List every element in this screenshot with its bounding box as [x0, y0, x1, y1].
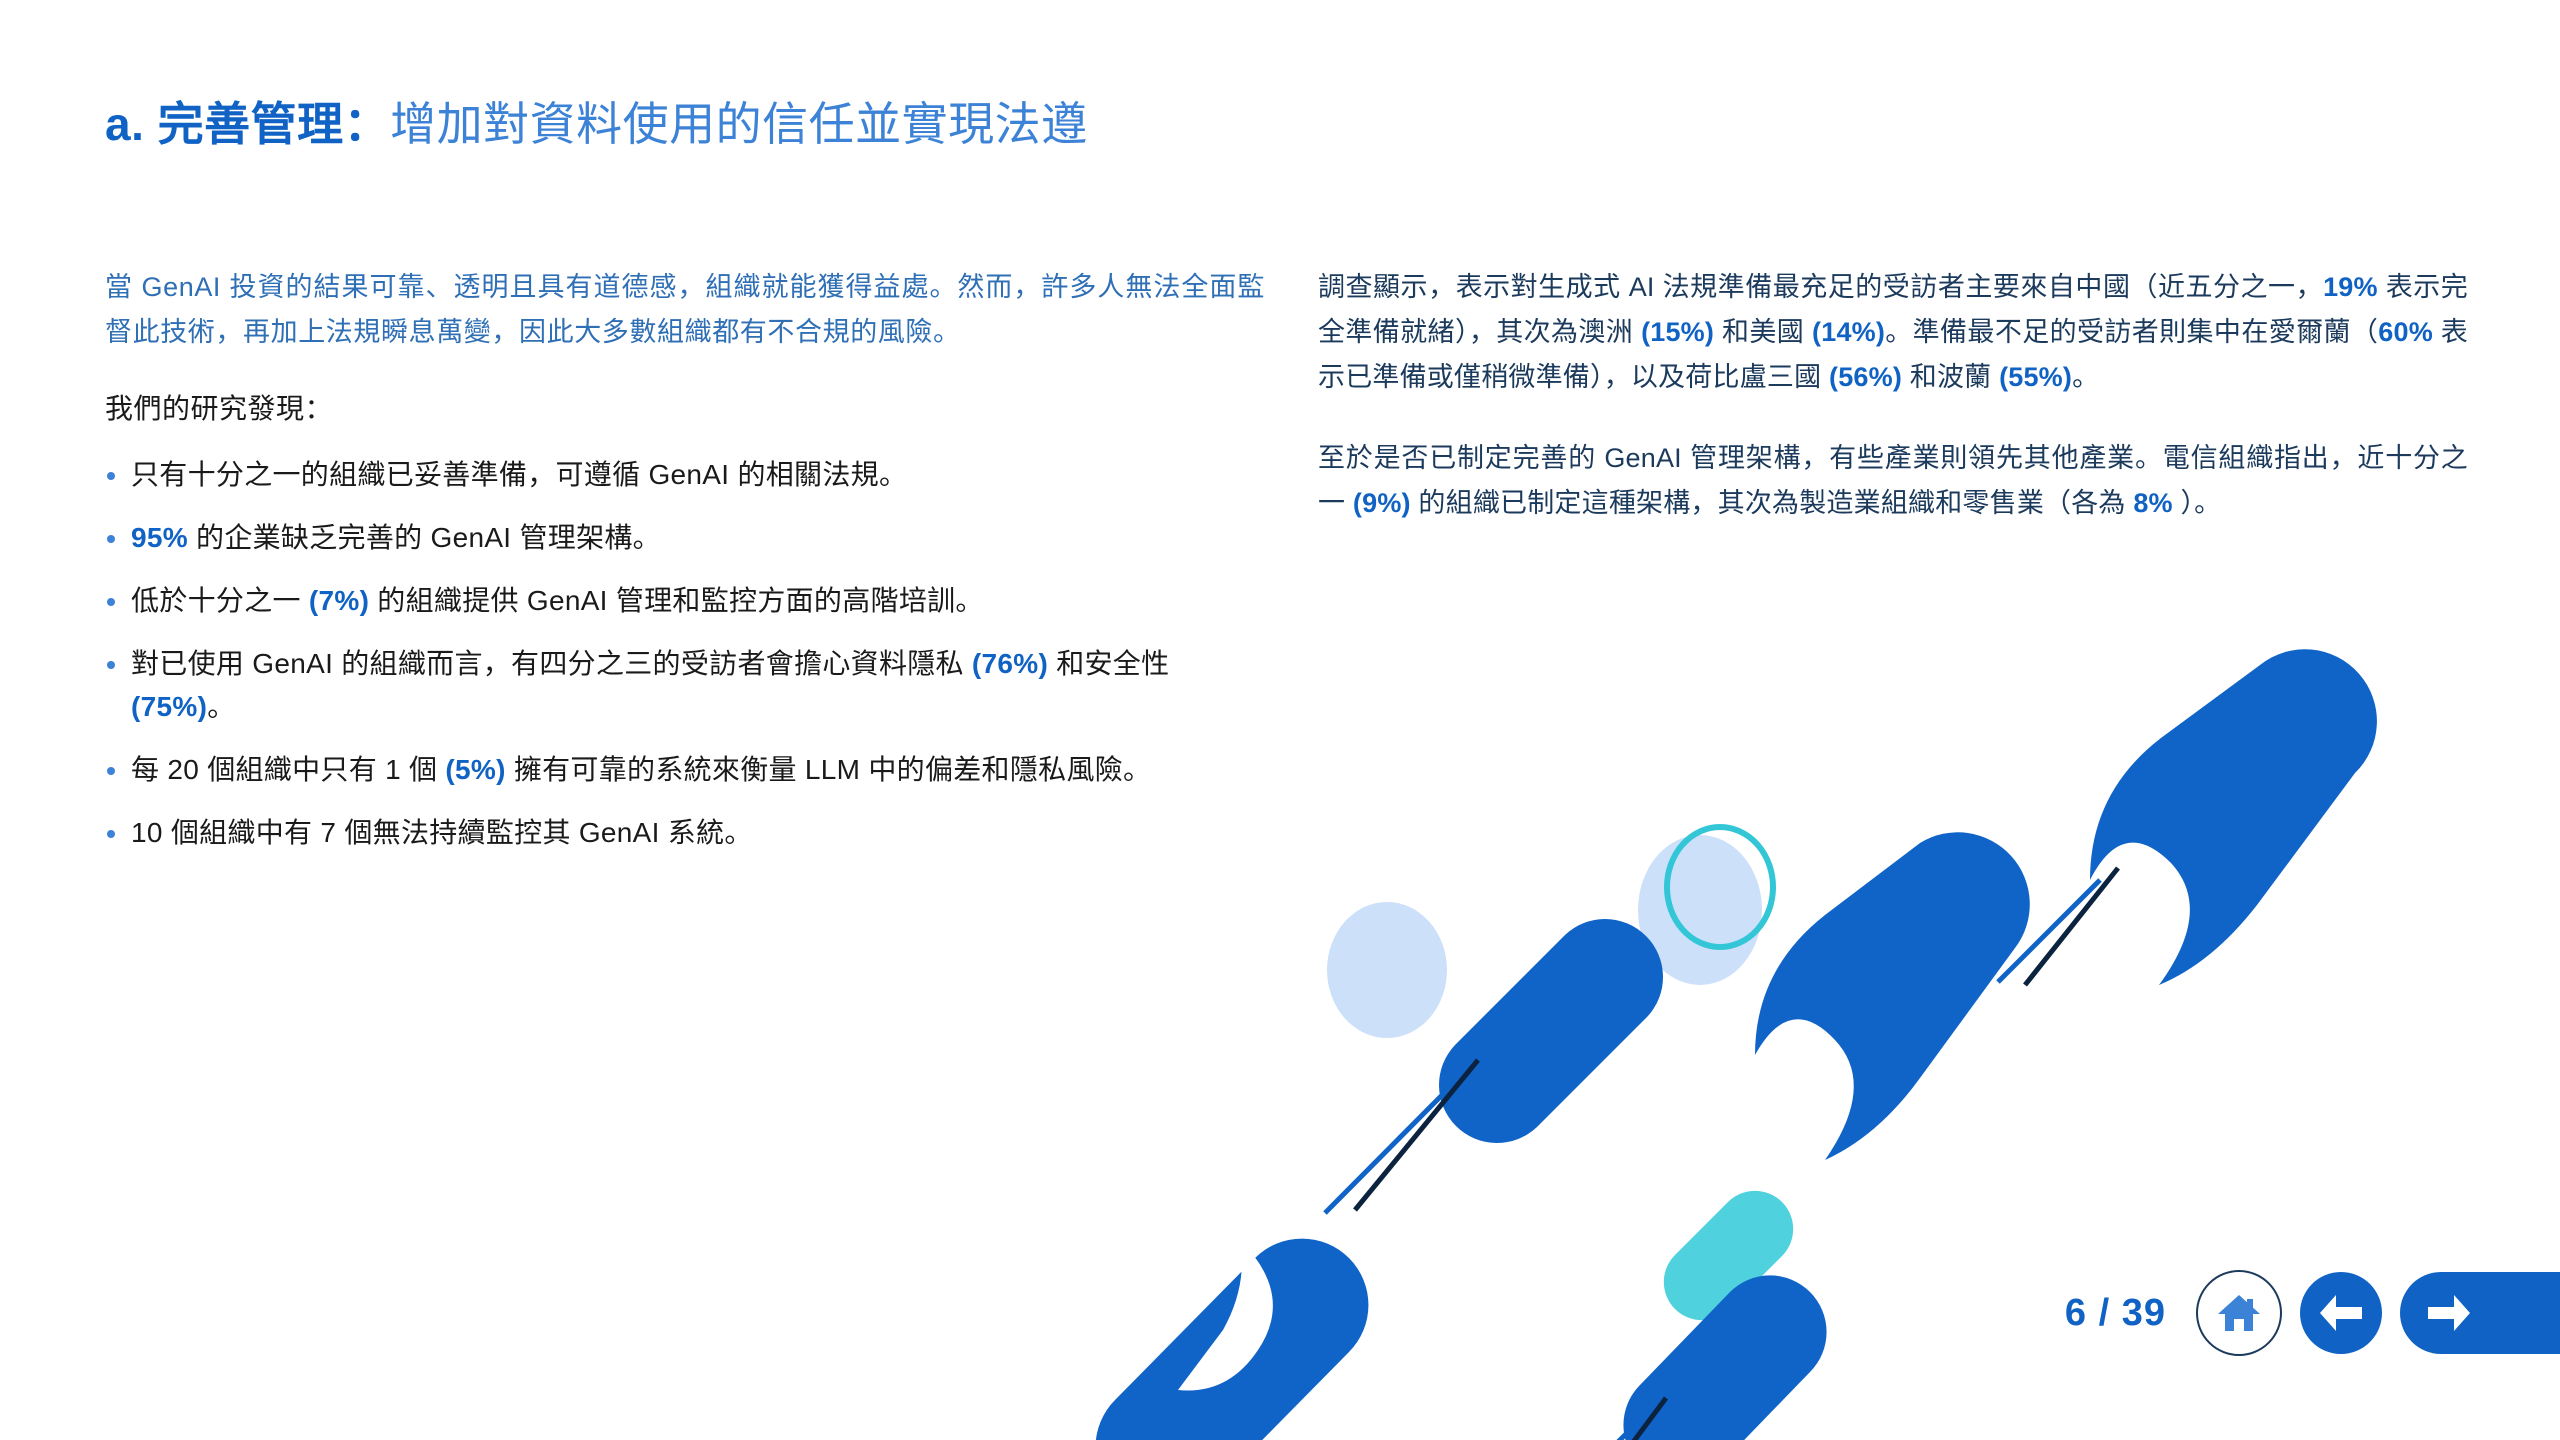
text-run: 。 — [207, 691, 235, 722]
right-paragraph: 至於是否已制定完善的 GenAI 管理架構，有些產業則領先其他產業。電信組織指出… — [1318, 436, 2468, 526]
stat-value: (7%) — [309, 585, 369, 616]
decor-pale-circle-2 — [1638, 835, 1762, 985]
text-run: 和波蘭 — [1902, 362, 1999, 392]
text-run: 只有十分之一的組織已妥善準備，可遵循 GenAI 的相關法規。 — [131, 459, 907, 490]
text-run: 的組織提供 GenAI 管理和監控方面的高階培訓。 — [369, 585, 984, 616]
page-title-rest: 增加對資料使用的信任並實現法遵 — [390, 98, 1088, 150]
decor-crescent-1 — [1755, 832, 2030, 1160]
next-button[interactable] — [2400, 1272, 2560, 1354]
text-run: 。準備最不足的受訪者則集中在愛爾蘭（ — [1885, 317, 2378, 347]
home-icon — [2216, 1292, 2262, 1334]
text-run: 和美國 — [1714, 317, 1812, 347]
finding-item: 10 個組織中有 7 個無法持續監控其 GenAI 系統。 — [105, 811, 1265, 854]
right-paragraph: 調查顯示，表示對生成式 AI 法規準備最充足的受訪者主要來自中國（近五分之一，1… — [1318, 265, 2468, 400]
finding-item: 對已使用 GenAI 的組織而言，有四分之三的受訪者會擔心資料隱私 (76%) … — [105, 642, 1265, 728]
stat-value: (75%) — [131, 691, 207, 722]
decor-capsule-2 — [1096, 1239, 1369, 1440]
page-navigation: 6 / 39 — [2065, 1270, 2560, 1356]
text-run: 調查顯示，表示對生成式 AI 法規準備最充足的受訪者主要來自中國（近五分之一， — [1318, 272, 2323, 302]
previous-button[interactable] — [2300, 1272, 2382, 1354]
text-run: 的組織已制定這種架構，其次為製造業組織和零售業（各為 — [1411, 488, 2134, 518]
decor-tails-1 — [1998, 868, 2118, 985]
stat-value: (9%) — [1353, 488, 1411, 518]
stat-value: (56%) — [1829, 362, 1902, 392]
finding-item: 只有十分之一的組織已妥善準備，可遵循 GenAI 的相關法規。 — [105, 453, 1265, 496]
left-lead-paragraph: 當 GenAI 投資的結果可靠、透明且具有道德感，組織就能獲得益處。然而，許多人… — [105, 265, 1265, 355]
finding-item: 95% 的企業缺乏完善的 GenAI 管理架構。 — [105, 516, 1265, 559]
text-run: 10 個組織中有 7 個無法持續監控其 GenAI 系統。 — [131, 817, 753, 848]
text-run: 低於十分之一 — [131, 585, 309, 616]
decor-pale-circle-1 — [1327, 902, 1447, 1038]
finding-item: 每 20 個組織中只有 1 個 (5%) 擁有可靠的系統來衡量 LLM 中的偏差… — [105, 748, 1265, 791]
text-run: 對已使用 GenAI 的組織而言，有四分之三的受訪者會擔心資料隱私 — [131, 648, 972, 679]
decor-crescent-2 — [2090, 649, 2377, 985]
page-title: a. 完善管理：增加對資料使用的信任並實現法遵 — [105, 88, 1088, 154]
findings-list: 只有十分之一的組織已妥善準備，可遵循 GenAI 的相關法規。95% 的企業缺乏… — [105, 453, 1265, 854]
stat-value: (15%) — [1641, 317, 1714, 347]
text-run: ）。 — [2173, 488, 2222, 518]
stat-value: 60% — [2378, 317, 2433, 347]
stat-value: (76%) — [972, 648, 1048, 679]
text-run: 。 — [2072, 362, 2099, 392]
left-column: 當 GenAI 投資的結果可靠、透明且具有道德感，組織就能獲得益處。然而，許多人… — [105, 265, 1265, 874]
stat-value: 19% — [2323, 272, 2378, 302]
findings-intro: 我們的研究發現： — [105, 389, 1265, 429]
stat-value: (55%) — [1999, 362, 2072, 392]
text-run: 擁有可靠的系統來衡量 LLM 中的偏差和隱私風險。 — [506, 754, 1152, 785]
page-indicator: 6 / 39 — [2065, 1292, 2166, 1335]
stat-value: 95% — [131, 522, 188, 553]
text-run: 的企業缺乏完善的 GenAI 管理架構。 — [188, 522, 661, 553]
text-run: 和安全性 — [1048, 648, 1169, 679]
stat-value: (5%) — [445, 754, 505, 785]
decor-pale-ring — [2207, 698, 2321, 812]
decor-capsule-3 — [1560, 1191, 1827, 1440]
decor-capsule-1 — [1325, 919, 1663, 1213]
stat-value: (14%) — [1812, 317, 1885, 347]
text-run: 每 20 個組織中只有 1 個 — [131, 754, 445, 785]
home-button[interactable] — [2196, 1270, 2282, 1356]
finding-item: 低於十分之一 (7%) 的組織提供 GenAI 管理和監控方面的高階培訓。 — [105, 579, 1265, 622]
arrow-left-icon — [2318, 1293, 2364, 1333]
arrow-right-icon — [2426, 1293, 2472, 1333]
decor-cyan-ring — [1667, 827, 1773, 947]
page-title-bold: a. 完善管理： — [105, 98, 390, 150]
stat-value: 8% — [2133, 488, 2172, 518]
right-column: 調查顯示，表示對生成式 AI 法規準備最充足的受訪者主要來自中國（近五分之一，1… — [1318, 265, 2468, 526]
